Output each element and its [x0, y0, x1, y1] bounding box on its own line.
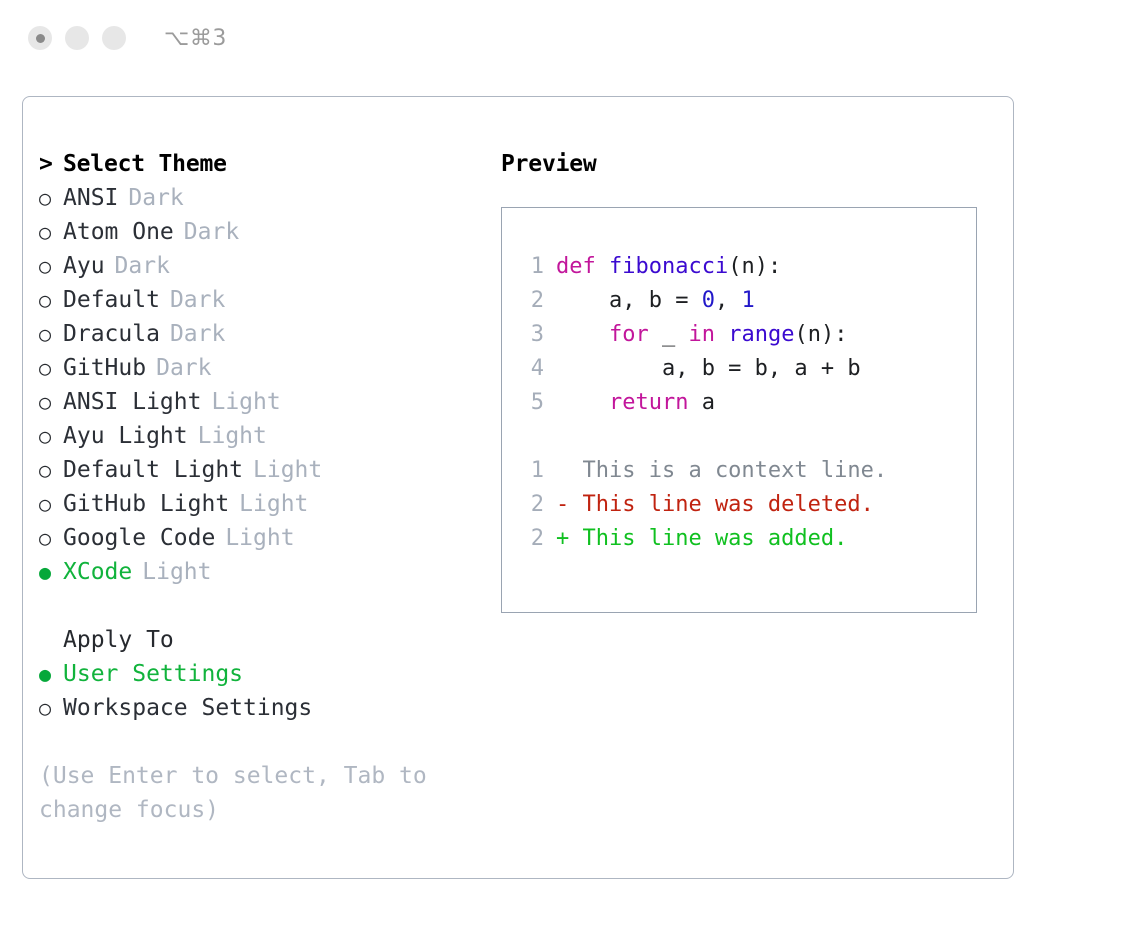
code-token: This is a context line.: [556, 458, 887, 483]
code-line: 4 a, b = b, a + b: [516, 352, 976, 386]
preview-title: Preview: [501, 147, 991, 181]
diff-line: 1 This is a context line.: [516, 454, 976, 488]
code-diff-spacer: [516, 420, 976, 454]
theme-variant-tag: Light: [225, 521, 294, 555]
theme-name-label: XCode: [63, 555, 132, 589]
radio-unselected-icon: ○: [39, 691, 63, 725]
radio-unselected-icon: ○: [39, 351, 63, 385]
section-spacer: [39, 589, 489, 623]
theme-list-item[interactable]: ○GitHubDark: [39, 351, 489, 385]
line-number: 3: [516, 318, 544, 352]
apply-to-heading-label: Apply To: [63, 623, 174, 657]
code-line: 2 a, b = 0, 1: [516, 284, 976, 318]
theme-selector: > Select Theme ○ANSIDark○Atom OneDark○Ay…: [39, 147, 489, 827]
prompt-caret-icon: >: [39, 147, 63, 181]
radio-unselected-icon: ○: [39, 385, 63, 419]
theme-list-item[interactable]: ○ANSI LightLight: [39, 385, 489, 419]
theme-name-label: ANSI Light: [63, 385, 201, 419]
window-minimize-button[interactable]: [65, 26, 89, 50]
code-line: 3 for _ in range(n):: [516, 318, 976, 352]
apply-to-item[interactable]: ○Workspace Settings: [39, 691, 489, 725]
code-token: [715, 322, 728, 347]
code-token: range: [728, 322, 794, 347]
theme-name-label: Default: [63, 283, 160, 317]
code-token: ,: [715, 288, 742, 313]
app-window: ⌥⌘3 > Select Theme ○ANSIDark○Atom OneDar…: [0, 0, 1140, 934]
keyboard-hint-text: (Use Enter to select, Tab to change focu…: [39, 759, 439, 827]
theme-list-item[interactable]: ○Default LightLight: [39, 453, 489, 487]
code-token: a: [688, 390, 715, 415]
diff-line: 2- This line was deleted.: [516, 488, 976, 522]
theme-name-label: Google Code: [63, 521, 215, 555]
apply-to-list: ●User Settings○Workspace Settings: [39, 657, 489, 725]
radio-unselected-icon: ○: [39, 283, 63, 317]
radio-unselected-icon: ○: [39, 249, 63, 283]
theme-variant-tag: Light: [142, 555, 211, 589]
code-token: + This line was added.: [556, 526, 847, 551]
theme-variant-tag: Light: [253, 453, 322, 487]
theme-list-item[interactable]: ○ANSIDark: [39, 181, 489, 215]
code-line-text: def fibonacci(n):: [556, 250, 781, 284]
code-token: [556, 390, 609, 415]
code-line-text: return a: [556, 386, 715, 420]
code-token: a, b =: [556, 288, 702, 313]
window-maximize-button[interactable]: [102, 26, 126, 50]
code-token: - This line was deleted.: [556, 492, 874, 517]
select-theme-heading-label: Select Theme: [63, 147, 227, 181]
line-number: 2: [516, 488, 544, 522]
select-theme-heading: > Select Theme: [39, 147, 489, 181]
line-number: 1: [516, 250, 544, 284]
code-line-text: - This line was deleted.: [556, 488, 874, 522]
code-token: fibonacci: [609, 254, 728, 279]
code-token: n: [741, 254, 754, 279]
line-number: 2: [516, 522, 544, 556]
code-token: (: [728, 254, 741, 279]
code-line-text: a, b = 0, 1: [556, 284, 755, 318]
code-token: in: [688, 322, 715, 347]
code-line-text: This is a context line.: [556, 454, 887, 488]
title-shortcut-label: ⌥⌘3: [164, 26, 227, 51]
apply-to-label: Workspace Settings: [63, 691, 312, 725]
theme-list-item[interactable]: ○DefaultDark: [39, 283, 489, 317]
theme-variant-tag: Dark: [115, 249, 170, 283]
theme-name-label: ANSI: [63, 181, 118, 215]
theme-list-item[interactable]: ○DraculaDark: [39, 317, 489, 351]
code-line: 1def fibonacci(n):: [516, 250, 976, 284]
radio-unselected-icon: ○: [39, 215, 63, 249]
code-token: 0: [702, 288, 715, 313]
code-line-text: a, b = b, a + b: [556, 352, 861, 386]
theme-list-item[interactable]: ○AyuDark: [39, 249, 489, 283]
code-token: ):: [755, 254, 782, 279]
code-token: ):: [821, 322, 848, 347]
radio-unselected-icon: ○: [39, 521, 63, 555]
apply-to-item[interactable]: ●User Settings: [39, 657, 489, 691]
radio-selected-icon: ●: [39, 555, 63, 589]
theme-variant-tag: Dark: [156, 351, 211, 385]
code-token: for: [609, 322, 649, 347]
main-panel: > Select Theme ○ANSIDark○Atom OneDark○Ay…: [22, 96, 1014, 879]
apply-to-label: User Settings: [63, 657, 243, 691]
radio-unselected-icon: ○: [39, 453, 63, 487]
theme-variant-tag: Dark: [170, 283, 225, 317]
code-line-text: + This line was added.: [556, 522, 847, 556]
diff-sample: 1 This is a context line.2- This line wa…: [516, 454, 976, 556]
theme-list-item[interactable]: ○Google CodeLight: [39, 521, 489, 555]
radio-unselected-icon: ○: [39, 181, 63, 215]
title-bar: ⌥⌘3: [0, 0, 1140, 76]
apply-to-heading: Apply To: [39, 623, 489, 657]
code-token: _: [649, 322, 689, 347]
code-token: (: [794, 322, 807, 347]
preview-code-box: 1def fibonacci(n):2 a, b = 0, 13 for _ i…: [501, 207, 977, 613]
diff-line: 2+ This line was added.: [516, 522, 976, 556]
code-token: [556, 322, 609, 347]
theme-list-item[interactable]: ○Atom OneDark: [39, 215, 489, 249]
theme-variant-tag: Dark: [184, 215, 239, 249]
code-token: [596, 254, 609, 279]
theme-name-label: Atom One: [63, 215, 174, 249]
theme-name-label: Dracula: [63, 317, 160, 351]
code-token: def: [556, 254, 596, 279]
code-token: a, b = b, a + b: [556, 356, 861, 381]
line-number: 5: [516, 386, 544, 420]
theme-name-label: GitHub Light: [63, 487, 229, 521]
code-token: 1: [741, 288, 754, 313]
code-sample: 1def fibonacci(n):2 a, b = 0, 13 for _ i…: [516, 250, 976, 420]
theme-list-item[interactable]: ○GitHub LightLight: [39, 487, 489, 521]
theme-list-item[interactable]: ○Ayu LightLight: [39, 419, 489, 453]
line-number: 2: [516, 284, 544, 318]
code-token: n: [808, 322, 821, 347]
theme-list-item[interactable]: ●XCodeLight: [39, 555, 489, 589]
radio-unselected-icon: ○: [39, 317, 63, 351]
line-number: 4: [516, 352, 544, 386]
code-line: 5 return a: [516, 386, 976, 420]
theme-name-label: GitHub: [63, 351, 146, 385]
theme-name-label: Ayu: [63, 249, 105, 283]
window-close-button[interactable]: [28, 26, 52, 50]
code-line-text: for _ in range(n):: [556, 318, 847, 352]
theme-name-label: Ayu Light: [63, 419, 188, 453]
theme-variant-tag: Light: [198, 419, 267, 453]
preview-pane: Preview 1def fibonacci(n):2 a, b = 0, 13…: [501, 147, 991, 613]
theme-list: ○ANSIDark○Atom OneDark○AyuDark○DefaultDa…: [39, 181, 489, 589]
window-controls: [28, 26, 126, 50]
theme-variant-tag: Light: [239, 487, 308, 521]
radio-unselected-icon: ○: [39, 487, 63, 521]
theme-variant-tag: Dark: [128, 181, 183, 215]
line-number: 1: [516, 454, 544, 488]
theme-name-label: Default Light: [63, 453, 243, 487]
theme-variant-tag: Dark: [170, 317, 225, 351]
code-token: return: [609, 390, 688, 415]
theme-variant-tag: Light: [211, 385, 280, 419]
active-indicator-dot: [36, 34, 45, 43]
radio-unselected-icon: ○: [39, 419, 63, 453]
radio-selected-icon: ●: [39, 657, 63, 691]
